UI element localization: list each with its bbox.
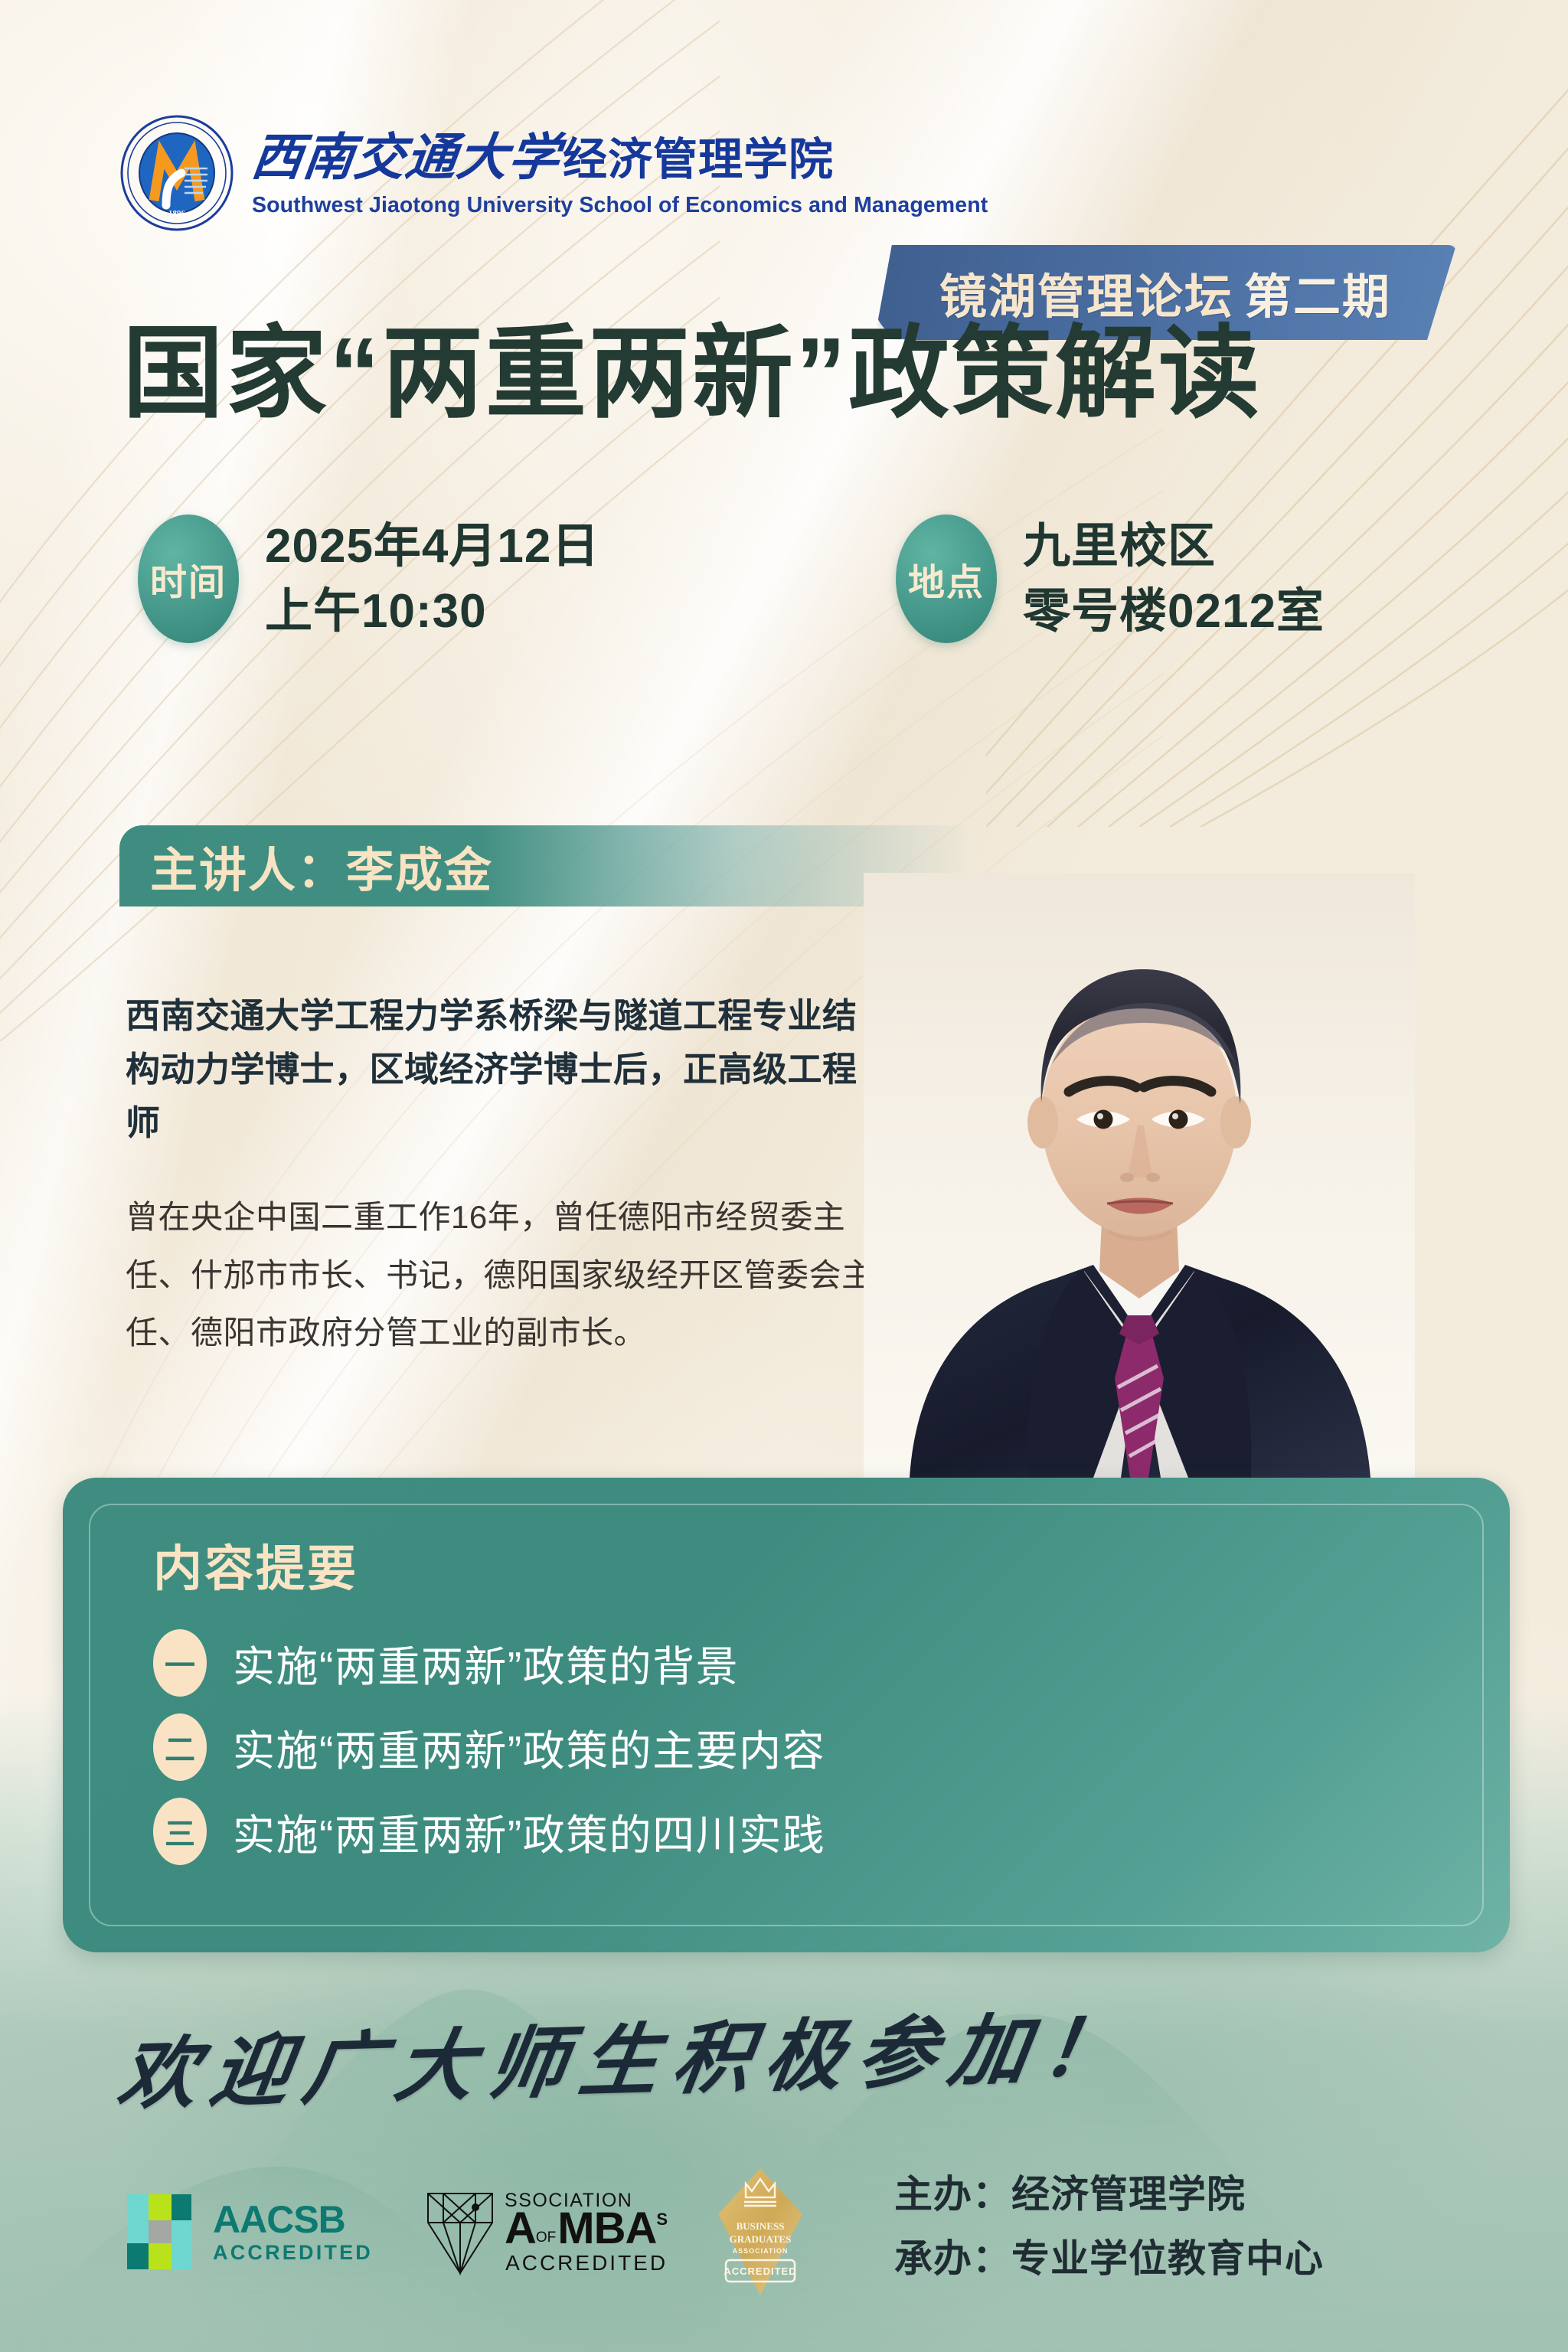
list-item: 二 实施“两重两新”政策的主要内容 xyxy=(153,1713,1441,1781)
bga-logo: BUSINESS GRADUATES ASSOCIATION ACCREDITE… xyxy=(715,2167,805,2297)
amba-a-letter: A xyxy=(505,2207,536,2249)
time-line-2: 上午10:30 xyxy=(265,581,599,642)
bga-line2: GRADUATES xyxy=(730,2233,792,2245)
co-organizer-line: 承办：专业学位教育中心 xyxy=(894,2228,1324,2283)
speaker-portrait xyxy=(864,873,1415,1478)
page-title: 国家“两重两新”政策解读 xyxy=(122,314,1501,433)
speaker-bio-bold: 西南交通大学工程力学系桥梁与隧道工程专业结构动力学博士，区域经济学博士后，正高级… xyxy=(126,989,884,1151)
amba-logo: SSOCIATION A OF MBA S ACCREDITED xyxy=(420,2187,668,2276)
time-line-1: 2025年4月12日 xyxy=(265,516,599,577)
logo-text: 西南交通大学 经济管理学院 Southwest Jiaotong Univers… xyxy=(252,129,988,218)
outline-number-badge: 二 xyxy=(153,1713,207,1781)
list-item: 三 实施“两重两新”政策的四川实践 xyxy=(153,1798,1441,1865)
list-item: 一 实施“两重两新”政策的背景 xyxy=(153,1629,1441,1697)
logo-en-text: Southwest Jiaotong University School of … xyxy=(252,193,988,218)
bga-accredited-badge: ACCREDITED xyxy=(724,2265,796,2277)
outline-item-text: 实施“两重两新”政策的四川实践 xyxy=(233,1801,825,1862)
outline-list: 一 实施“两重两新”政策的背景 二 实施“两重两新”政策的主要内容 三 实施“两… xyxy=(153,1629,1441,1865)
speaker-banner: 主讲人：李成金 xyxy=(119,825,975,906)
aacsb-name: AACSB xyxy=(213,2200,373,2239)
outline-number-badge: 三 xyxy=(153,1798,207,1865)
logo-cn-bold: 经济管理学院 xyxy=(563,138,834,182)
place-badge: 地点 xyxy=(896,514,997,643)
aacsb-mark-icon xyxy=(122,2191,202,2272)
place-badge-label: 地点 xyxy=(908,552,985,606)
event-info-row: 时间 2025年4月12日 上午10:30 地点 九里校区 零号楼0212室 xyxy=(0,514,1568,714)
logo-cn-script: 西南交通大学 xyxy=(249,133,563,184)
speaker-bio-text: 曾在央企中国二重工作16年，曾任德阳市经贸委主任、什邡市市长、书记，德阳国家级经… xyxy=(126,1188,891,1362)
time-badge: 时间 xyxy=(138,514,239,643)
event-place-block: 地点 九里校区 零号楼0212室 xyxy=(896,514,1325,643)
amba-accredited-text: ACCREDITED xyxy=(505,2252,668,2274)
speaker-banner-label: 主讲人：李成金 xyxy=(150,831,493,900)
organizer-line: 主办：经济管理学院 xyxy=(894,2164,1324,2219)
bga-crest-icon: BUSINESS GRADUATES ASSOCIATION ACCREDITE… xyxy=(715,2167,805,2297)
outline-item-text: 实施“两重两新”政策的背景 xyxy=(233,1632,739,1694)
university-logo: 1896 西南交通大学 经济管理学院 Southwest Jiaotong Un… xyxy=(119,115,988,231)
accreditation-logos: AACSB ACCREDITED xyxy=(122,2167,805,2297)
organizer-block: 主办：经济管理学院 承办：专业学位教育中心 xyxy=(894,2164,1324,2283)
event-time-block: 时间 2025年4月12日 上午10:30 xyxy=(138,514,599,643)
poster-header: 1896 西南交通大学 经济管理学院 Southwest Jiaotong Un… xyxy=(0,115,1568,260)
amba-s-letter: S xyxy=(656,2211,668,2228)
bga-line1: BUSINESS xyxy=(737,2220,785,2232)
poster-root: 1896 西南交通大学 经济管理学院 Southwest Jiaotong Un… xyxy=(0,0,1568,2352)
time-badge-label: 时间 xyxy=(150,552,227,606)
place-line-1: 九里校区 xyxy=(1023,516,1325,577)
amba-mba-text: MBA xyxy=(557,2207,656,2249)
university-seal-icon: 1896 xyxy=(119,115,235,231)
amba-diamond-icon xyxy=(420,2187,500,2276)
bga-line3: ASSOCIATION xyxy=(733,2247,789,2255)
poster-footer: AACSB ACCREDITED xyxy=(0,2151,1568,2327)
outline-number-badge: 一 xyxy=(153,1629,207,1697)
outline-item-text: 实施“两重两新”政策的主要内容 xyxy=(233,1717,825,1778)
aacsb-sub: ACCREDITED xyxy=(213,2243,373,2263)
outline-box: 内容提要 一 实施“两重两新”政策的背景 二 实施“两重两新”政策的主要内容 三… xyxy=(63,1478,1510,1952)
outline-title: 内容提要 xyxy=(153,1530,358,1600)
amba-of-text: OF xyxy=(536,2230,556,2245)
aacsb-logo: AACSB ACCREDITED xyxy=(122,2191,373,2272)
place-line-2: 零号楼0212室 xyxy=(1023,581,1325,642)
svg-text:1896: 1896 xyxy=(168,209,186,218)
